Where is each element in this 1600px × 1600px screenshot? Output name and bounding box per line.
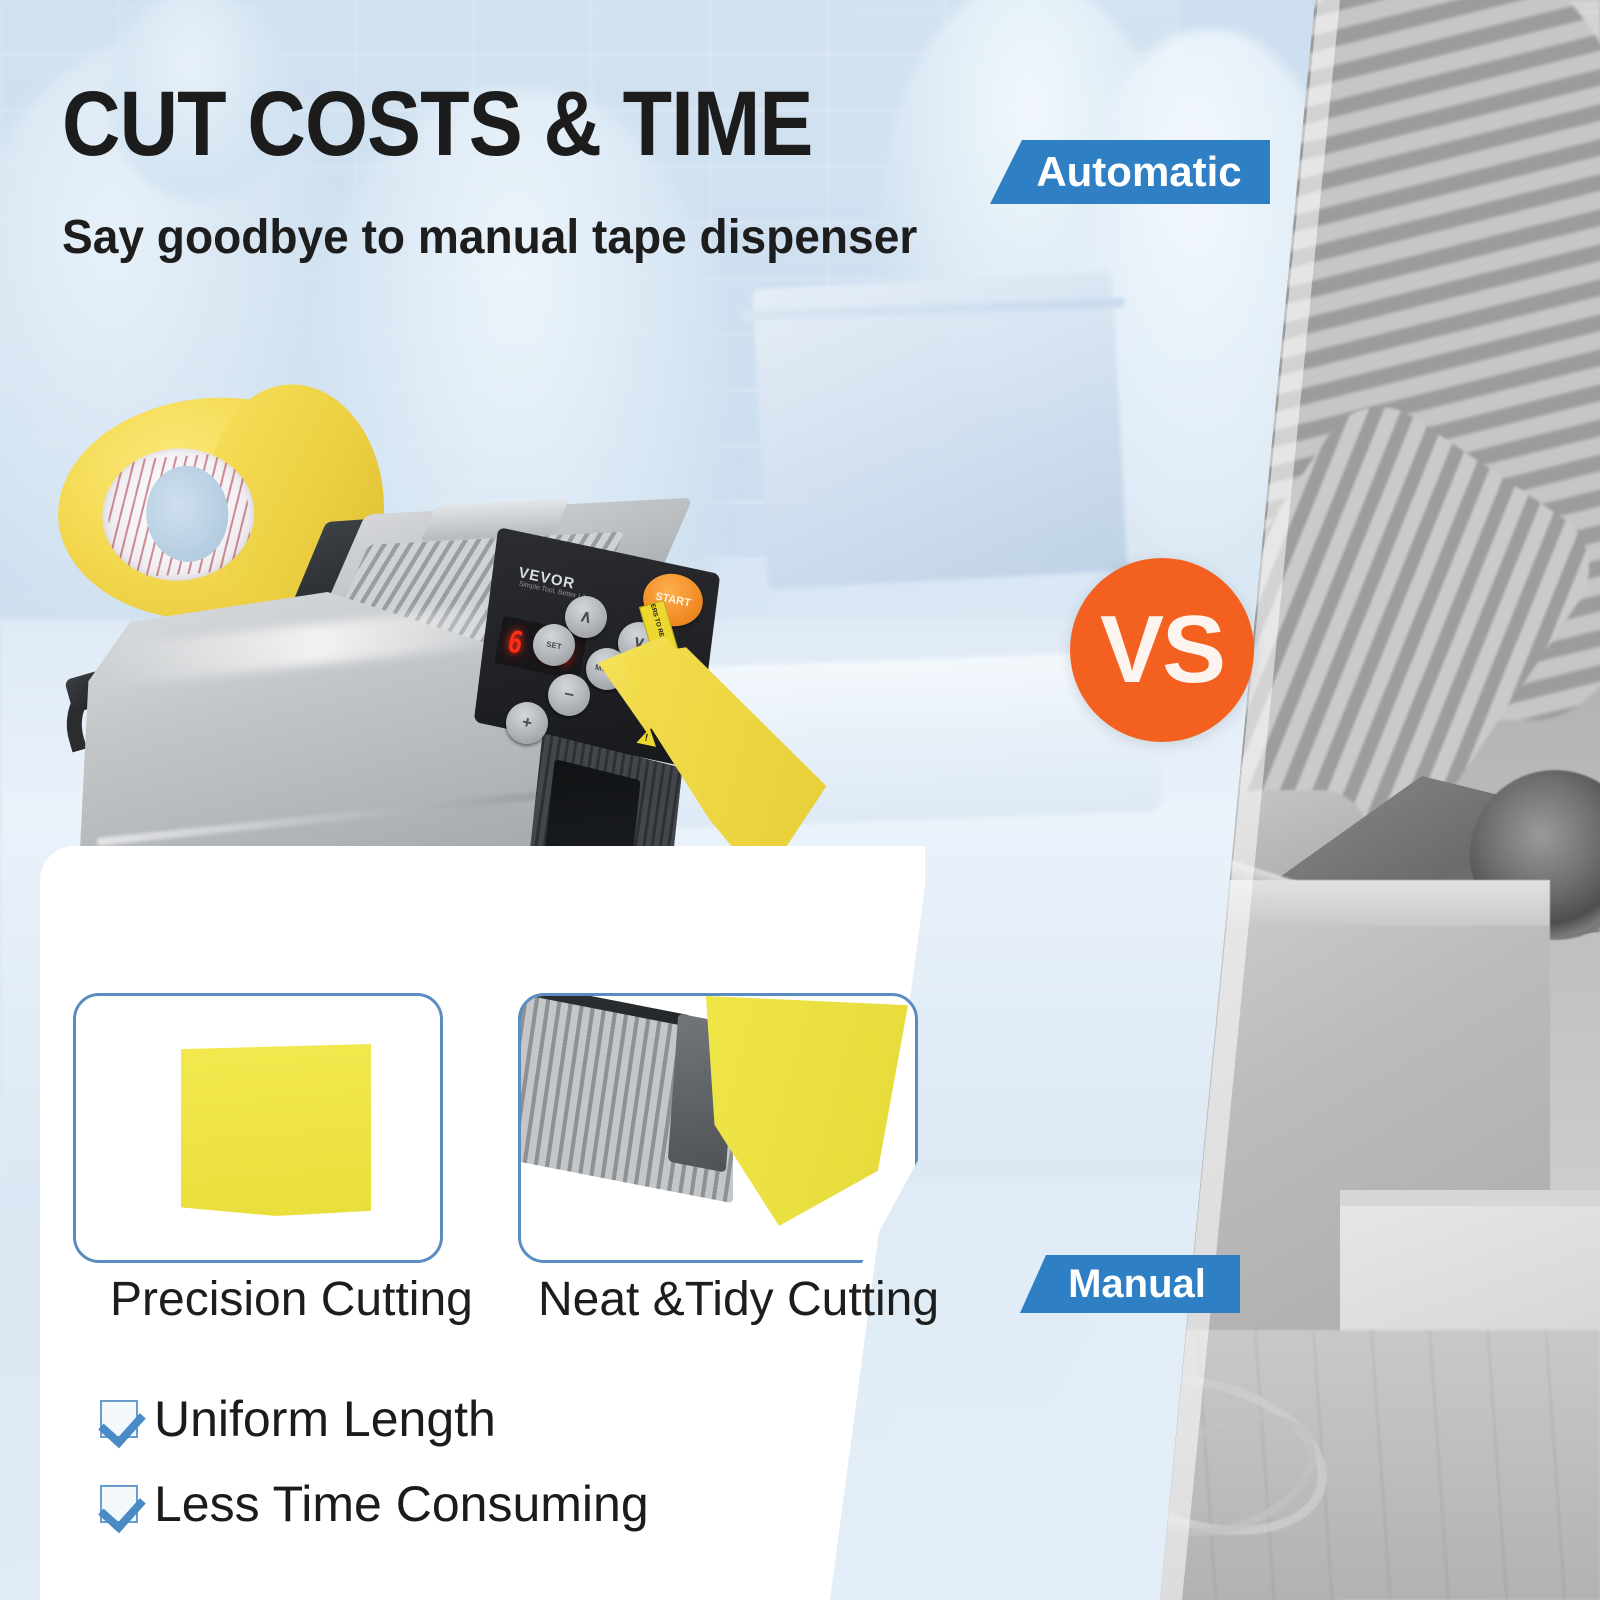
bullet-less-time-consuming: Less Time Consuming xyxy=(100,1475,649,1533)
checkbox-checked-icon xyxy=(100,1485,138,1523)
page-subtitle: Say goodbye to manual tape dispenser xyxy=(62,210,917,265)
cardboard-box-photo xyxy=(752,271,1127,589)
versus-badge: VS xyxy=(1070,558,1254,742)
promo-banner: CUT COSTS & TIME Say goodbye to manual t… xyxy=(0,0,1600,1600)
feature-card-corner xyxy=(40,846,160,966)
feature-image-neat-tidy-cutting xyxy=(518,993,918,1263)
feature-image-precision-cutting xyxy=(73,993,443,1263)
bullet-uniform-length: Uniform Length xyxy=(100,1390,496,1448)
bullet-label: Less Time Consuming xyxy=(154,1475,649,1533)
page-title: CUT COSTS & TIME xyxy=(62,78,813,170)
feature-caption-neat-tidy-cutting: Neat &Tidy Cutting xyxy=(538,1272,939,1327)
bullet-label: Uniform Length xyxy=(154,1390,496,1448)
checkbox-checked-icon xyxy=(100,1400,138,1438)
badge-automatic: Automatic xyxy=(990,140,1270,204)
feature-caption-precision-cutting: Precision Cutting xyxy=(110,1272,473,1327)
tape-swatch-image xyxy=(181,1044,371,1216)
badge-manual: Manual xyxy=(1020,1255,1240,1313)
